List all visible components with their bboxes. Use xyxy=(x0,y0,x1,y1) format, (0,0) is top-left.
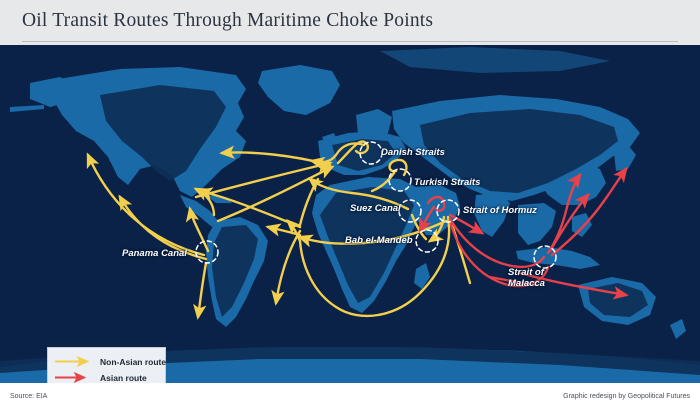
legend-swatch-asian-route xyxy=(54,372,96,383)
legend-label-non-asian-route: Non-Asian route xyxy=(100,357,166,367)
world-map: Panama Canal Danish Straits Turkish Stra… xyxy=(0,45,700,383)
map-svg xyxy=(0,45,700,383)
choke-label-danish-straits: Danish Straits xyxy=(381,147,445,158)
footer-bar: Source: EIA Graphic redesign by Geopolit… xyxy=(0,383,700,413)
choke-label-panama-canal: Panama Canal xyxy=(122,248,187,259)
legend: Non-Asian route Asian route xyxy=(47,347,166,383)
header-bar: Oil Transit Routes Through Maritime Chok… xyxy=(0,0,700,45)
choke-label-strait-of-malacca-line1: Strait of xyxy=(508,267,545,278)
page-title: Oil Transit Routes Through Maritime Chok… xyxy=(22,10,433,32)
choke-label-bab-el-mandeb: Bab el-Mandeb xyxy=(345,235,413,246)
legend-label-asian-route: Asian route xyxy=(100,373,147,383)
legend-item-non-asian-route: Non-Asian route xyxy=(54,355,166,368)
choke-label-strait-of-malacca-line2: Malacca xyxy=(508,278,545,289)
infographic-root: Oil Transit Routes Through Maritime Chok… xyxy=(0,0,700,413)
footer-source: Source: EIA xyxy=(10,393,47,400)
choke-label-strait-of-hormuz: Strait of Hormuz xyxy=(463,205,537,216)
choke-label-turkish-straits: Turkish Straits xyxy=(414,177,480,188)
header-divider xyxy=(22,41,678,42)
footer-credit: Graphic redesign by Geopolitical Futures xyxy=(563,393,690,400)
choke-label-suez-canal: Suez Canal xyxy=(350,203,401,214)
legend-swatch-non-asian-route xyxy=(54,356,96,367)
legend-item-asian-route: Asian route xyxy=(54,371,147,383)
choke-label-strait-of-malacca: Strait of Malacca xyxy=(508,267,545,289)
